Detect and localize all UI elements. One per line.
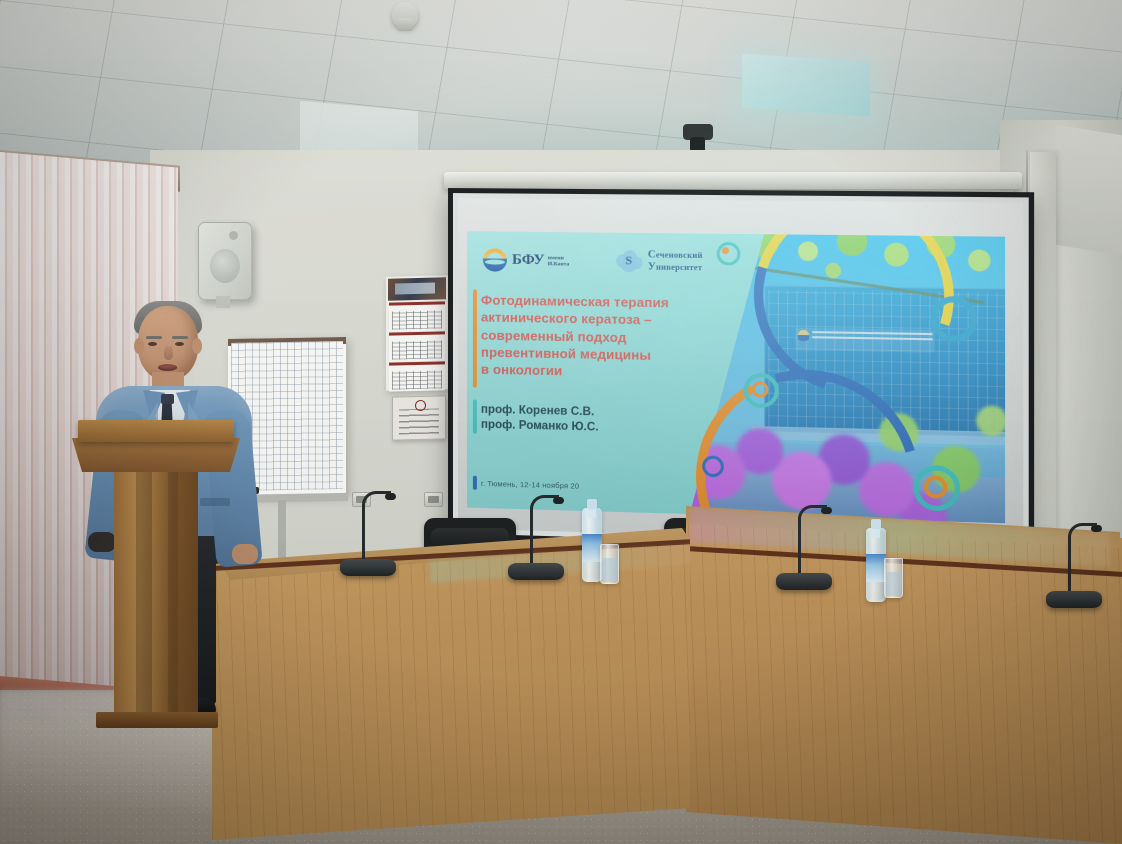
ring-center-core [752,381,769,398]
authors-accent-bar [473,400,477,434]
sign-text-lines [399,409,439,435]
presenter-brow-left [146,336,162,339]
sechenov-line1: Сеченовский [648,249,703,262]
power-socket-2[interactable] [424,492,443,507]
bfu-line2: И.Канта [548,262,570,268]
presenter-ear-left [134,338,144,354]
bottle-label-1 [582,534,602,562]
ceiling-projector [683,124,713,140]
footer-accent-bar [473,476,477,490]
presenter-nose [164,346,173,360]
water-glass-1[interactable] [600,544,619,584]
sechenov-logo: S Сеченовский Университет [616,249,703,274]
presenter-hand-right [232,544,258,564]
glass-water-1 [602,558,617,582]
ring-top-small-core [722,247,729,254]
ring-mid-left [702,455,724,477]
podium-desktop [78,420,234,442]
presenter-ear-right [192,338,202,354]
screen-roller-case [444,172,1022,189]
calendar-month-1 [389,301,445,331]
microphone-1[interactable] [340,490,400,576]
podium-base [96,712,218,728]
title-accent-bar [473,289,477,387]
socket-face-icon-2 [428,496,439,503]
ring-bottom-right-inner [924,475,947,498]
podium [78,420,234,732]
presenter-tie-knot [161,394,174,404]
podium-front-panel [72,438,240,472]
conference-room-photo: БФУ имени И.Канта S [0,0,1122,844]
ring-right-large [930,296,977,342]
bottle-cap-2 [871,519,881,529]
bottle-cap-1 [587,499,597,509]
sechenov-monogram: S [625,254,632,266]
microphone-3[interactable] [776,500,836,590]
presenter-brow-right [172,336,188,339]
mic-gooseneck-2 [530,511,533,567]
slide-title: Фотодинамическая терапия актинического к… [481,291,715,382]
glass-water-2 [886,572,901,596]
microphone-4[interactable] [1046,516,1106,608]
microphone-2[interactable] [508,492,568,580]
mic-gooseneck-bend-2 [530,495,559,520]
calendar-header-photo [388,277,446,300]
bottle-neck-1 [588,508,596,518]
presidium-table-left [212,540,690,840]
bfu-mark-icon [483,247,507,271]
mic-base-1 [340,559,396,576]
water-bottle-2[interactable] [866,528,886,602]
presenter-eye-right [175,342,184,346]
calendar-grid-2 [392,340,442,359]
smoke-detector [392,2,418,28]
calendar-grid-3 [392,370,442,389]
mic-gooseneck-3 [798,521,801,577]
mic-gooseneck-1 [362,507,365,563]
sechenov-wordmark: Сеченовский Университет [648,249,703,274]
wall-soffit [1056,125,1122,255]
bfu-subtitle: имени И.Канта [548,255,570,268]
bfu-logo: БФУ имени И.Канта [483,247,569,272]
water-glass-2[interactable] [884,558,903,598]
bottle-neck-2 [872,528,880,538]
bfu-wordmark: БФУ имени И.Канта [512,252,569,268]
mic-base-4 [1046,591,1102,608]
title-line-5: в онкологии [481,361,715,383]
calendar-month-2 [389,331,445,361]
bfu-wave-icon [483,258,507,271]
sechenov-mark-icon: S [616,250,643,273]
mic-gooseneck-bend-1 [362,491,391,516]
framed-sign [392,395,446,440]
mic-gooseneck-bend-4 [1068,523,1097,548]
mic-gooseneck-bend-3 [798,505,827,530]
wall-calendar [386,275,448,391]
presentation-slide: БФУ имени И.Канта S [467,231,1005,523]
slide-authors: проф. Коренев С.В. проф. Романко Ю.С. [481,402,704,438]
flipchart-leg [278,500,286,564]
wall-speaker [198,222,252,300]
wood-grain-left [212,540,690,840]
mic-base-2 [508,563,564,580]
calendar-month-3 [389,361,445,391]
presenter-eye-left [148,342,157,346]
calendar-grid-1 [392,310,442,329]
bfu-abbr: БФУ [512,252,545,267]
mic-base-3 [776,573,832,590]
sechenov-line2: Университет [648,261,703,274]
mic-gooseneck-4 [1068,539,1071,595]
water-bottle-1[interactable] [582,508,602,582]
presenter-mouth [158,364,177,371]
slide-footer-date: г. Тюмень, 12-14 ноября 20 [481,480,579,490]
bottle-label-2 [866,554,886,582]
podium-column [114,468,198,718]
ring-top-small [717,242,741,266]
